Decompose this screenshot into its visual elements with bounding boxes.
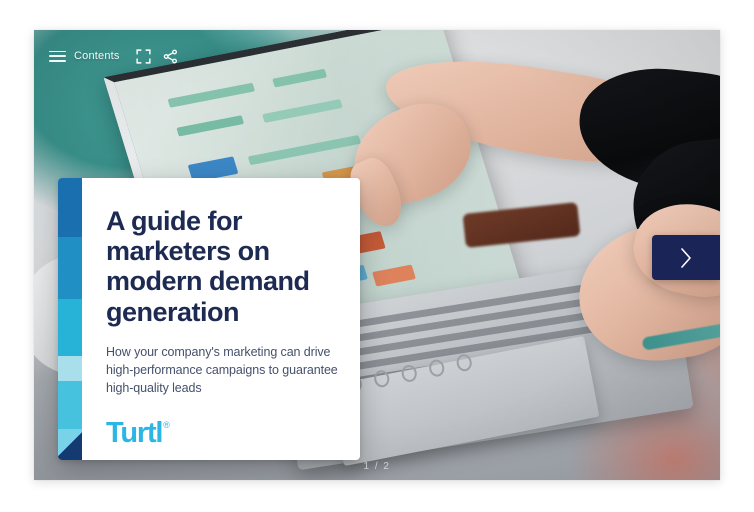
spine-band-1 <box>58 381 82 429</box>
spine-corner-accent <box>58 430 82 460</box>
cover-subtitle: How your company's marketing can drive h… <box>106 343 338 397</box>
share-icon[interactable] <box>163 49 178 64</box>
cover-card-body: A guide for marketers on modern demand g… <box>82 178 360 460</box>
turtl-logo-text: Turtl <box>106 419 162 448</box>
dashboard-block-5 <box>247 135 360 165</box>
hamburger-menu-icon[interactable] <box>49 51 66 62</box>
contents-button[interactable]: Contents <box>49 50 120 62</box>
spine-band-2 <box>58 356 82 381</box>
dashboard-block-0 <box>168 83 255 108</box>
cover-card[interactable]: A guide for marketers on modern demand g… <box>58 178 360 460</box>
viewer-toolbar: Contents <box>34 30 178 76</box>
cover-title: A guide for marketers on modern demand g… <box>106 206 338 327</box>
dashboard-block-2 <box>177 115 245 136</box>
next-page-button[interactable] <box>652 235 720 280</box>
dashboard-block-14 <box>372 265 415 287</box>
cover-spine <box>58 178 82 460</box>
turtl-logo: Turtl ® <box>106 419 338 448</box>
registered-trademark-mark: ® <box>163 421 170 430</box>
spine-band-5 <box>58 178 82 237</box>
chevron-right-icon <box>676 245 696 271</box>
spine-band-3 <box>58 299 82 355</box>
contents-label: Contents <box>74 50 120 62</box>
page-indicator: 1 / 2 <box>34 461 720 472</box>
dashboard-block-1 <box>272 69 327 88</box>
document-viewer: Contents <box>0 0 754 512</box>
spine-band-4 <box>58 237 82 299</box>
document-canvas: Contents <box>34 30 720 480</box>
dashboard-block-3 <box>262 99 343 123</box>
fullscreen-expand-icon[interactable] <box>136 49 151 64</box>
